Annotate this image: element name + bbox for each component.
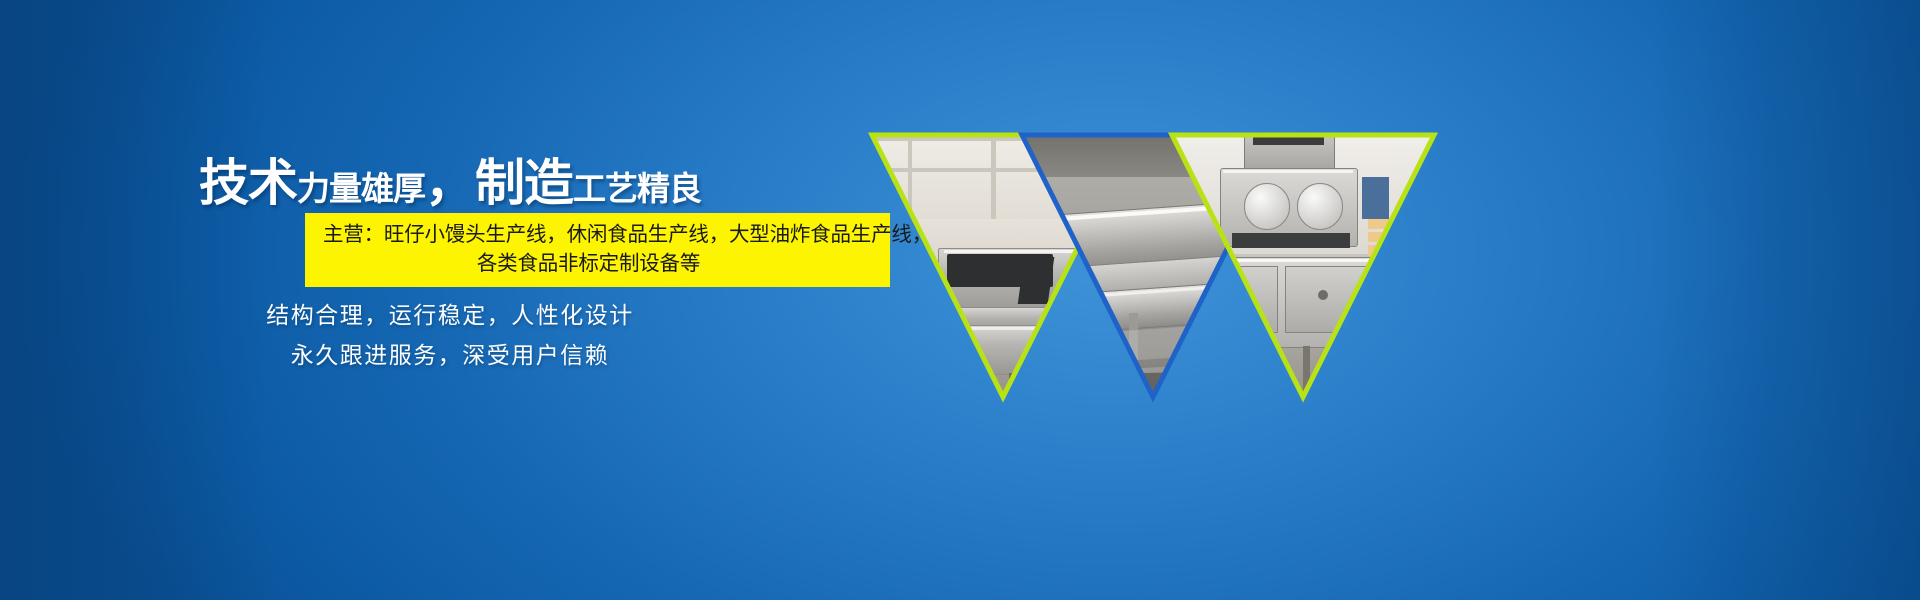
- banner-taglines: 结构合理，运行稳定，人性化设计 永久跟进服务，深受用户信赖: [0, 295, 900, 375]
- products-line-2: 各类食品非标定制设备等: [315, 249, 880, 278]
- headline-segment-2: 力量雄厚: [297, 170, 425, 207]
- tagline-2: 永久跟进服务，深受用户信赖: [0, 335, 900, 375]
- main-products-highlight-box: 主营：旺仔小馒头生产线，休闲食品生产线，大型油炸食品生产线， 各类食品非标定制设…: [305, 213, 890, 287]
- triangle-3-svg: [1155, 118, 1451, 414]
- triangle-photo-group: [855, 118, 1495, 418]
- headline-comma: ，: [425, 155, 475, 211]
- photo-triangle-forming-packaging-machine: [1155, 118, 1451, 414]
- forming-machine-photo: [1155, 118, 1451, 414]
- headline-segment-1: 技术: [199, 155, 297, 211]
- banner-text-block: 技术力量雄厚，制造工艺精良 主营：旺仔小馒头生产线，休闲食品生产线，大型油炸食品…: [0, 150, 900, 410]
- headline-segment-4: 工艺精良: [573, 170, 701, 207]
- headline-segment-3: 制造: [475, 155, 573, 211]
- page-title: 技术力量雄厚，制造工艺精良: [0, 158, 900, 208]
- products-line-1: 主营：旺仔小馒头生产线，休闲食品生产线，大型油炸食品生产线，: [315, 220, 880, 249]
- tagline-1: 结构合理，运行稳定，人性化设计: [0, 295, 900, 335]
- promo-banner: 技术力量雄厚，制造工艺精良 主营：旺仔小馒头生产线，休闲食品生产线，大型油炸食品…: [0, 0, 1920, 600]
